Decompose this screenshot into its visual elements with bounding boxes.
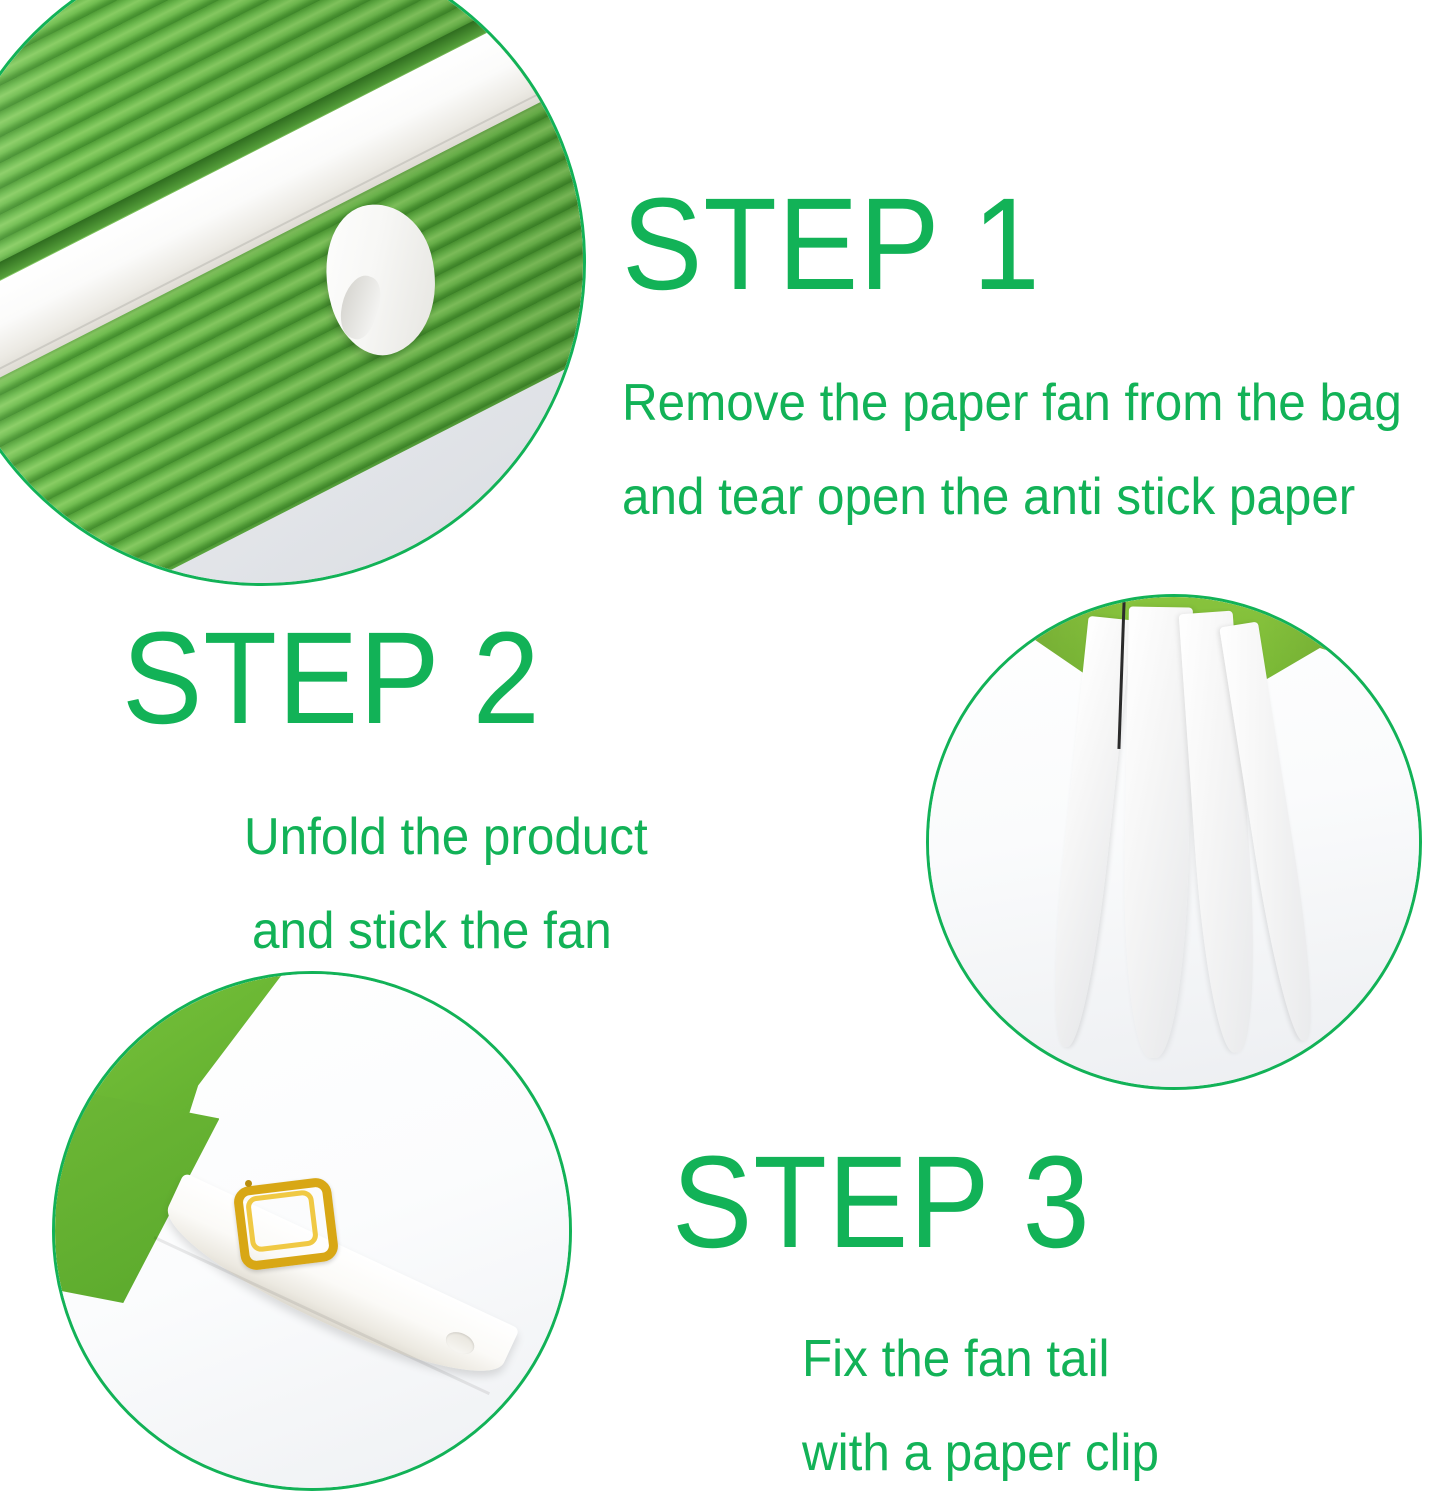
step3-heading: STEP 3 (672, 1136, 1137, 1267)
step3-photo-circle (52, 971, 572, 1491)
step2-instruction-line-2: and stick the fan (252, 905, 648, 957)
step3-instruction-line-1: Fix the fan tail (802, 1333, 1159, 1385)
step1-photo-circle (0, 0, 586, 586)
step3-instruction-line-2: with a paper clip (802, 1427, 1159, 1479)
instruction-infographic: STEP 1 Remove the paper fan from the bag… (0, 0, 1445, 1498)
step1-instruction-line-1: Remove the paper fan from the bag (622, 377, 1402, 429)
step1-instruction-line-2: and tear open the anti stick paper (622, 471, 1402, 523)
step2-text-block: STEP 2 Unfold the product and stick the … (122, 612, 669, 957)
step3-text-block: STEP 3 Fix the fan tail with a paper cli… (672, 1136, 1178, 1479)
step3-photo (55, 974, 569, 1488)
fan-tail-dimple (442, 1328, 478, 1359)
step2-photo-circle (926, 594, 1422, 1090)
step1-photo (0, 0, 583, 583)
step2-instruction-line-1: Unfold the product (244, 811, 648, 863)
paper-clip-tip (245, 1180, 252, 1187)
step1-heading: STEP 1 (622, 178, 1377, 309)
step1-text-block: STEP 1 Remove the paper fan from the bag… (622, 178, 1443, 523)
step2-heading: STEP 2 (122, 612, 625, 743)
paper-clip-inner-loop (245, 1189, 319, 1253)
step2-photo (929, 597, 1419, 1087)
